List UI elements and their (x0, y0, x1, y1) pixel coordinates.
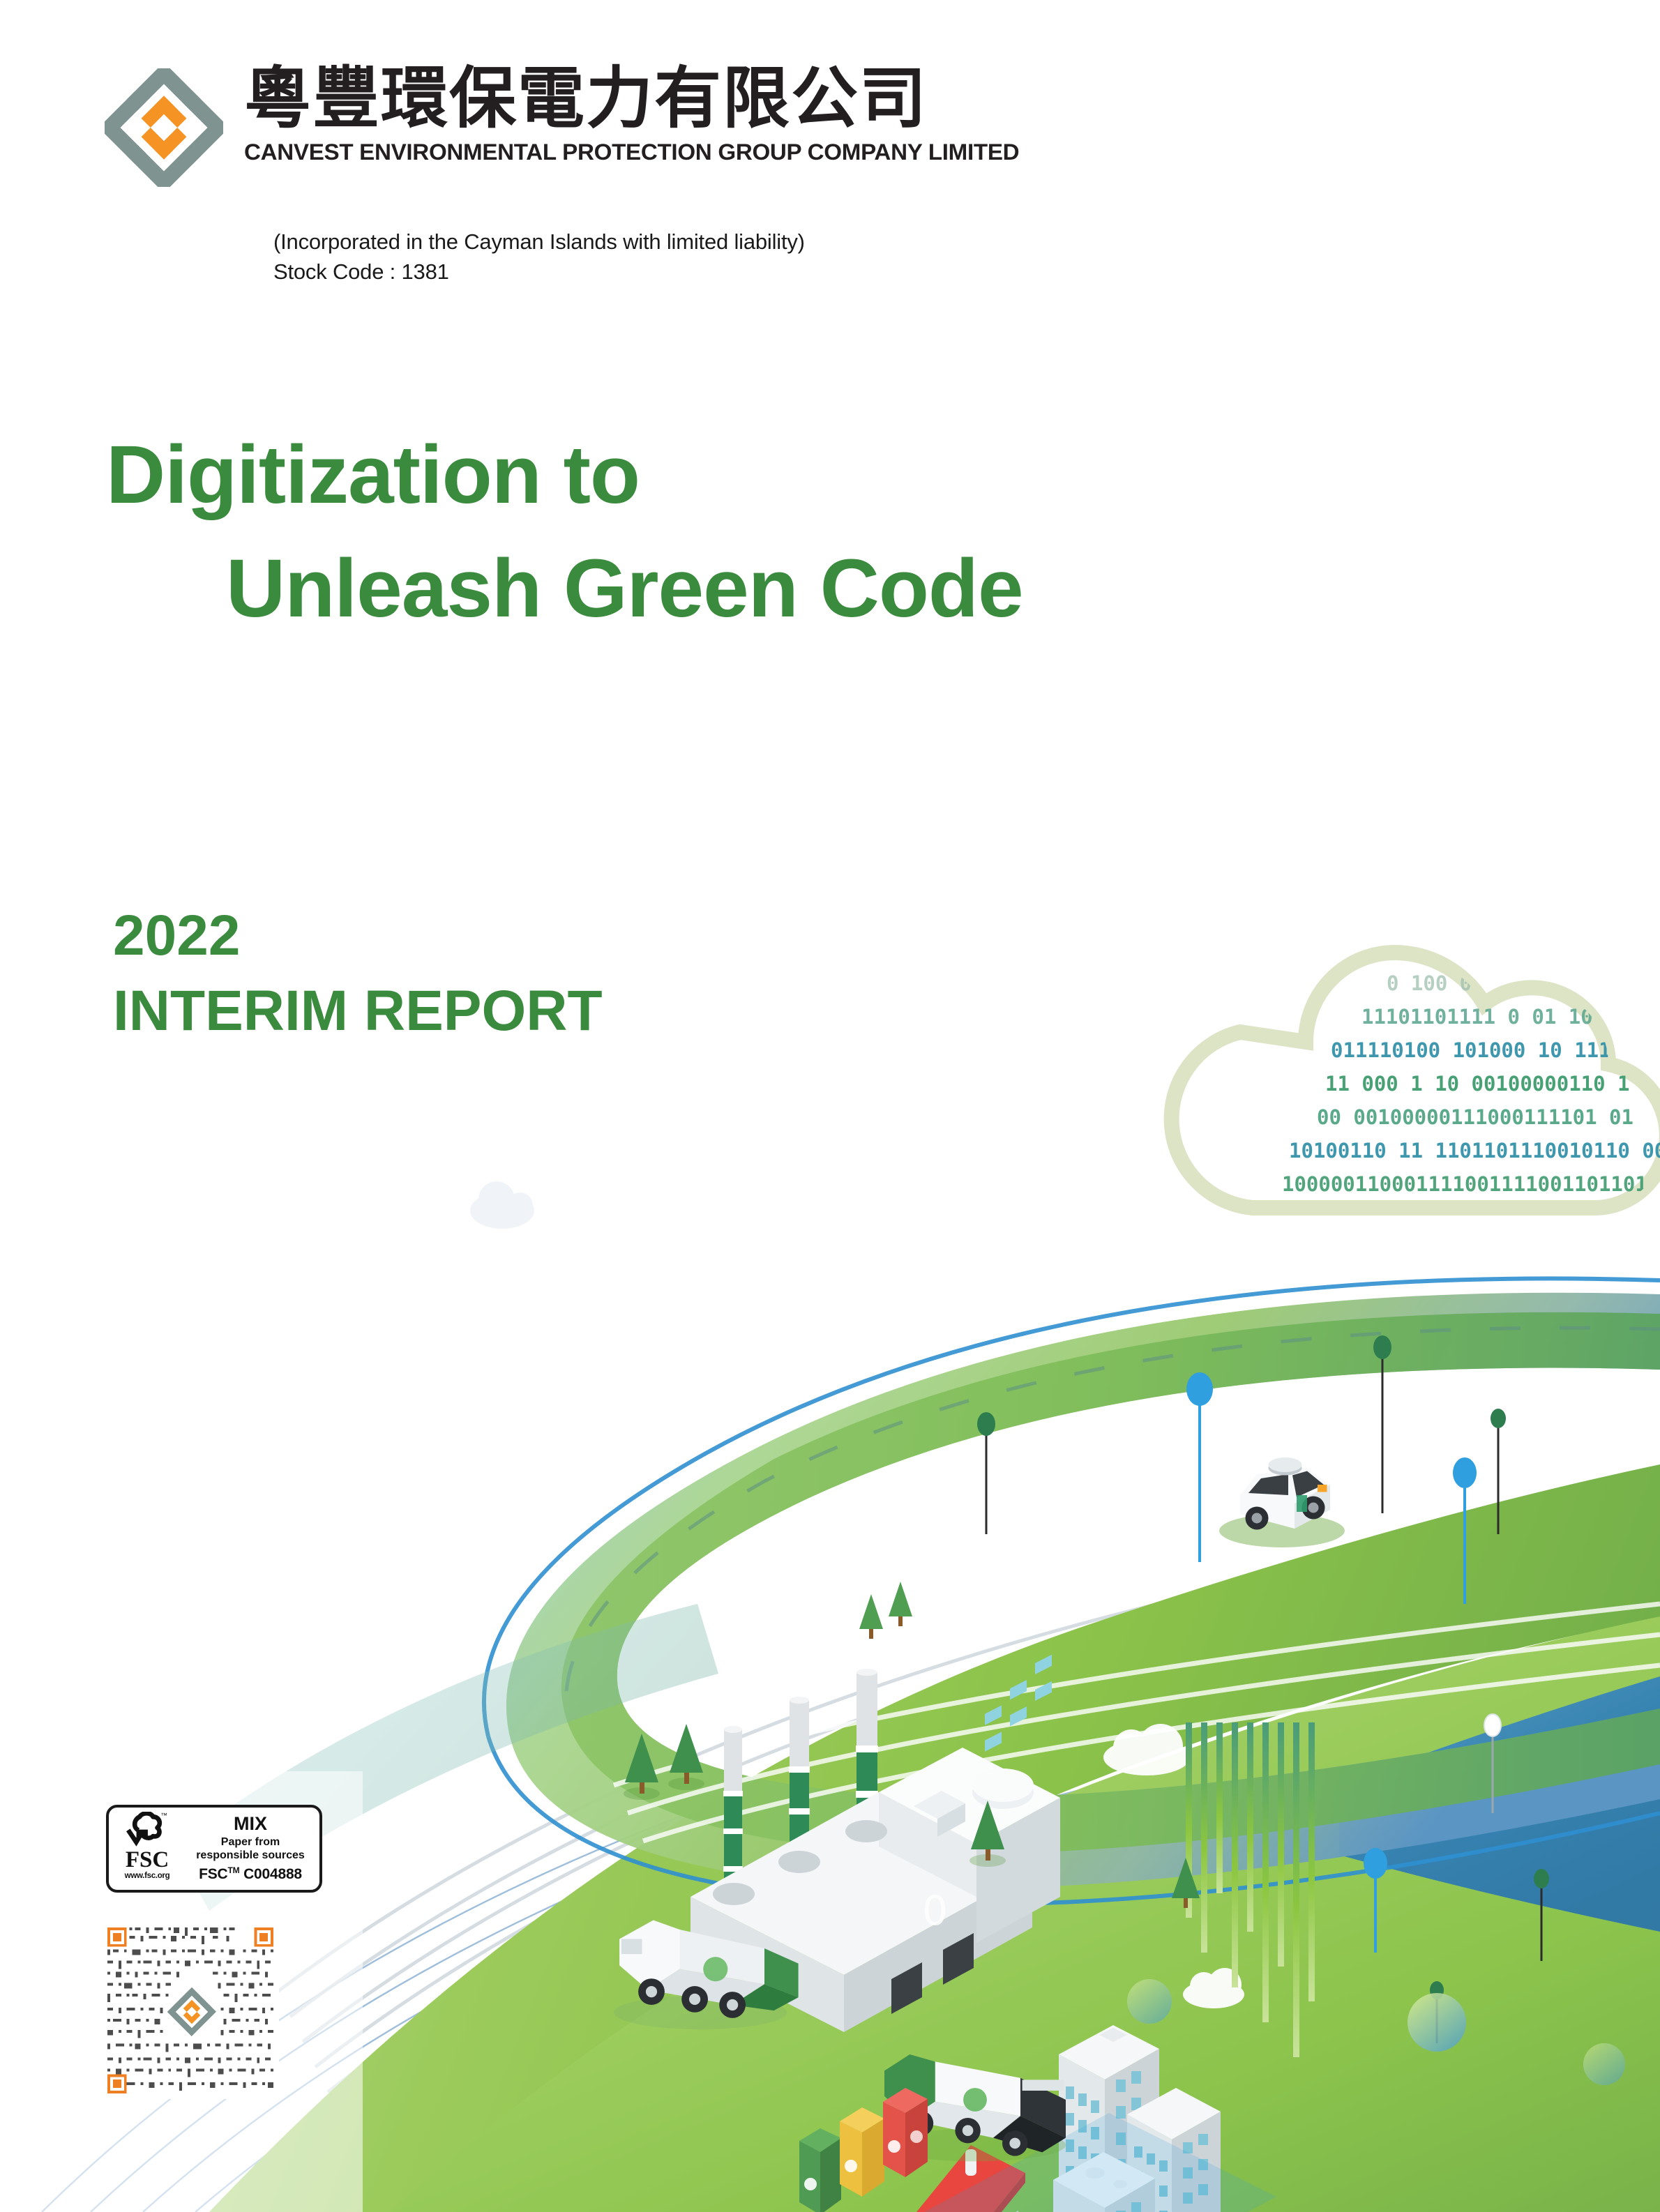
svg-text:™: ™ (160, 1812, 167, 1819)
bin-yellow (840, 2107, 884, 2197)
data-pins (977, 1335, 1549, 2043)
recycling-bins (799, 2088, 928, 2212)
garbage-truck-plant (614, 1921, 799, 2030)
fsc-description-line-2: responsible sources (196, 1849, 305, 1863)
company-name-en: CANVEST ENVIRONMENTAL PROTECTION GROUP C… (244, 139, 1098, 165)
report-year: 2022 (113, 898, 603, 974)
svg-text:100000110001111001111001101101: 100000110001111001111001101101 0 (1282, 1172, 1660, 1196)
company-subtitle-block: (Incorporated in the Cayman Islands with… (273, 227, 805, 287)
water-body (1339, 1676, 1660, 1932)
ribbon-lane-dashes (566, 1328, 1660, 1710)
trees (624, 1582, 1200, 1908)
svg-text:0 100 0: 0 100 0 (1387, 971, 1472, 995)
binary-data-cloud: 0 100 0 11101101111 0 01 10 011110100 10… (1172, 953, 1660, 1296)
elevated-ribbon-highway-edge (561, 1312, 1660, 1854)
grass-plateau (391, 1616, 1660, 2212)
fsc-description: Paper from responsible sources (196, 1836, 305, 1863)
bin-green (799, 2128, 841, 2212)
striped-data-fan (278, 1509, 1660, 2092)
fsc-code-tm: TM (227, 1865, 239, 1875)
smokestacks (723, 1669, 878, 1897)
fsc-grade: MIX (234, 1815, 267, 1833)
fsc-badge: ™ FSC www.fsc.org MIX Paper from respons… (106, 1805, 322, 1893)
fsc-claim: MIX Paper from responsible sources FSCTM… (186, 1808, 319, 1890)
tower-b (1127, 2088, 1221, 2212)
bin-red (883, 2088, 928, 2177)
incorporation-note: (Incorporated in the Cayman Islands with… (273, 227, 805, 257)
fsc-certificate-code: FSCTM C004888 (199, 1865, 302, 1883)
binary-zero-glyph: 0 (922, 1887, 948, 1934)
svg-text:11101101111 0 01 10: 11101101111 0 01 10 (1361, 1005, 1593, 1029)
title-line-1: Digitization to (106, 429, 640, 521)
page-title: Digitization to Unleash Green Code (106, 418, 1292, 646)
house-red-roof (916, 2145, 1025, 2212)
fsc-description-line-1: Paper from (196, 1836, 305, 1849)
fsc-tree-checkmark-icon: ™ (126, 1812, 169, 1852)
company-name-cn: 粵豐環保電力有限公司 (244, 63, 1081, 135)
svg-text:011101001101000 100101100 001: 011101001101000 100101100 001 011 (1283, 1206, 1660, 1229)
fsc-wordmark: FSC (126, 1850, 169, 1871)
small-clouds (470, 1181, 1244, 2070)
waste-to-energy-plant (691, 1655, 1060, 2032)
fsc-code-value: C004888 (243, 1866, 302, 1882)
report-type: INTERIM REPORT (113, 974, 603, 1049)
ribbon-guideline (484, 1278, 1660, 1904)
tower-a (1059, 2025, 1159, 2212)
report-cover-page: 0 100 0 11101101111 0 01 10 011110100 10… (0, 0, 1660, 2212)
elevated-ribbon-highway-top (506, 1293, 1660, 1889)
autonomous-car (1219, 1457, 1345, 1547)
fsc-url: www.fsc.org (125, 1872, 170, 1880)
cloud-outline (1172, 953, 1660, 1208)
company-qr-code[interactable] (102, 1922, 279, 2099)
fsc-logo: ™ FSC www.fsc.org (109, 1808, 186, 1890)
title-line-2: Unleash Green Code (106, 532, 1292, 646)
svg-text:011110100 101000 10 111: 011110100 101000 10 111 (1331, 1038, 1611, 1062)
canvest-pinwheel-logo (105, 68, 223, 187)
signal-bars (1186, 1722, 1315, 2057)
svg-text:00 00100000111000111101 01: 00 00100000111000111101 01 (1317, 1105, 1633, 1129)
report-label-block: 2022 INTERIM REPORT (113, 898, 603, 1049)
city-buildings (914, 2025, 1276, 2212)
low-block (1053, 2152, 1155, 2212)
company-logo-block: 粵豐環保電力有限公司 CANVEST ENVIRONMENTAL PROTECT… (105, 63, 1081, 216)
fsc-code-prefix: FSC (199, 1866, 227, 1882)
svg-text:11 000 1 10 00100000110 1: 11 000 1 10 00100000110 1 (1325, 1072, 1630, 1096)
stock-code: Stock Code : 1381 (273, 257, 805, 287)
svg-text:001 11101110110011 1 0100 1101: 001 11101110110011 1 0100 11011 (1292, 1239, 1660, 1263)
gradient-spheres (1127, 1979, 1625, 2085)
svg-text:0011110 1001110101111010011001: 0011110 10011101011110100110010 (1288, 1273, 1660, 1296)
svg-text:10100110 11 1101101110010110 0: 10100110 11 1101101110010110 00 (1289, 1139, 1660, 1162)
lower-road-band (209, 1464, 1660, 2212)
ribbon-underside-streaks (614, 1604, 1660, 1841)
garbage-truck-city (884, 2054, 1066, 2161)
company-name-group: 粵豐環保電力有限公司 CANVEST ENVIRONMENTAL PROTECT… (244, 63, 1081, 165)
